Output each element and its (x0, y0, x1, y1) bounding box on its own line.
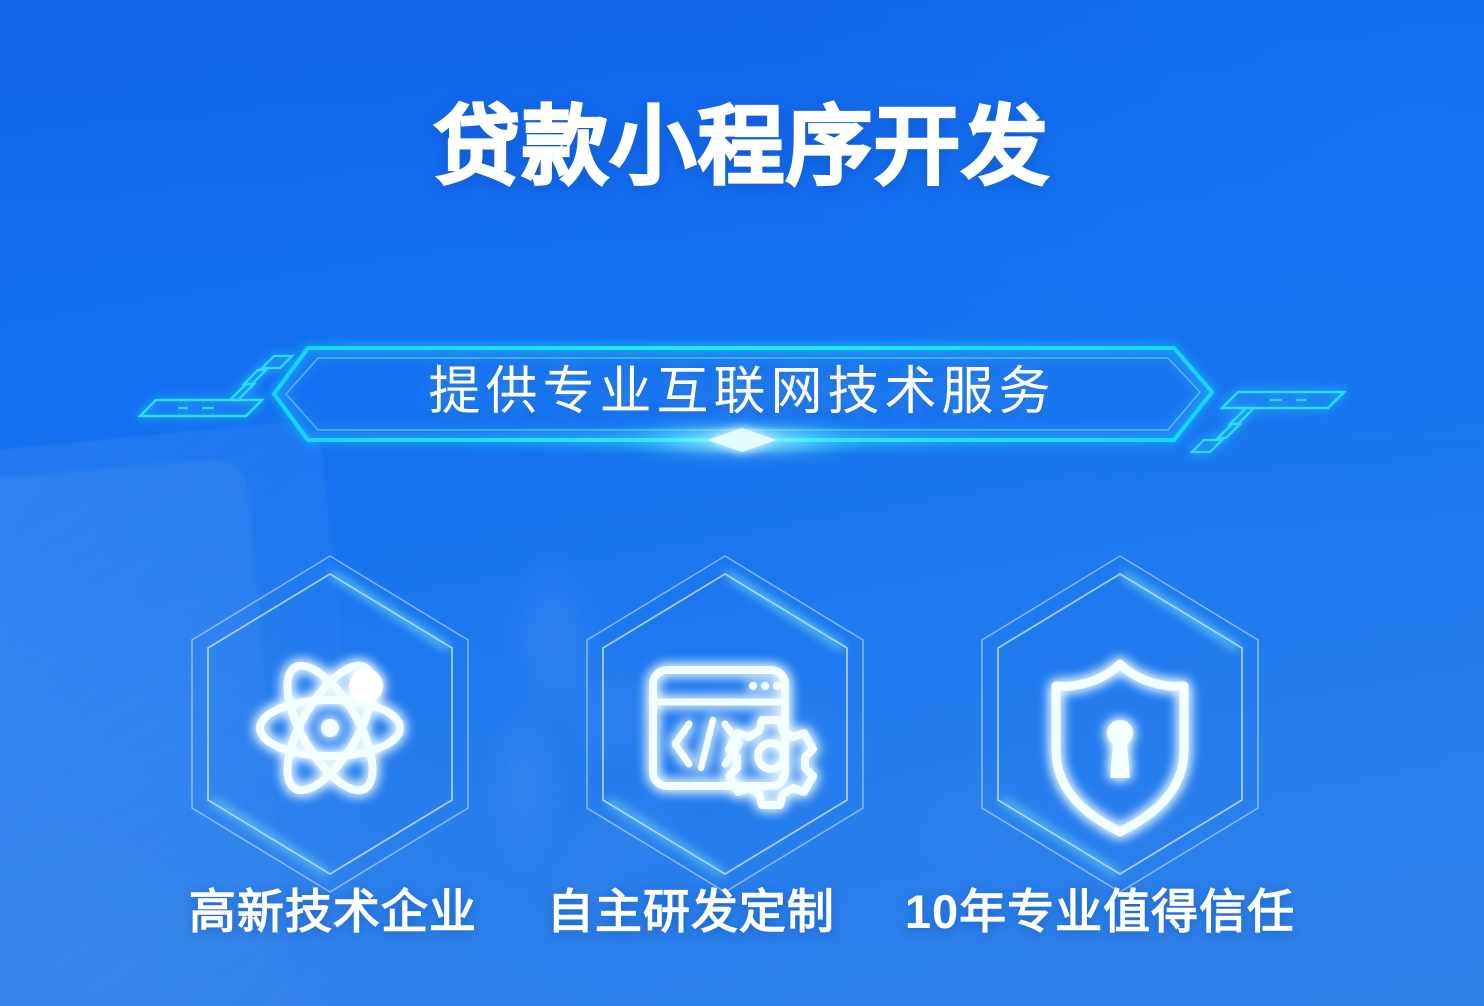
promo-banner-page: 贷款小程序开发 (0, 0, 1484, 1006)
hexagon-frame-atom (180, 548, 480, 900)
subtitle-banner: 提供专业互联网技术服务 (0, 330, 1484, 480)
code-window-gear-icon (653, 670, 813, 805)
banner-subtitle: 提供专业互联网技术服务 (0, 366, 1484, 418)
feature-hexagon-in-house-development[interactable] (575, 548, 875, 900)
page-title: 贷款小程序开发 (0, 104, 1484, 190)
atom-icon (260, 653, 400, 802)
hexagon-frame-shield (970, 548, 1270, 900)
feature-label-ten-years-trusted: 10年专业值得信任 (905, 888, 1295, 935)
feature-label-row: 高新技术企业 自主研发定制 10年专业值得信任 (0, 888, 1484, 935)
feature-label-in-house-development: 自主研发定制 (547, 888, 835, 935)
feature-hexagon-ten-years-trusted[interactable] (970, 548, 1270, 900)
feature-hexagon-high-tech-enterprise[interactable] (180, 548, 480, 900)
feature-label-high-tech-enterprise: 高新技术企业 (189, 888, 477, 935)
shield-lock-icon (1056, 664, 1184, 832)
hexagon-frame-code (575, 548, 875, 900)
feature-hexagon-row (0, 548, 1484, 908)
